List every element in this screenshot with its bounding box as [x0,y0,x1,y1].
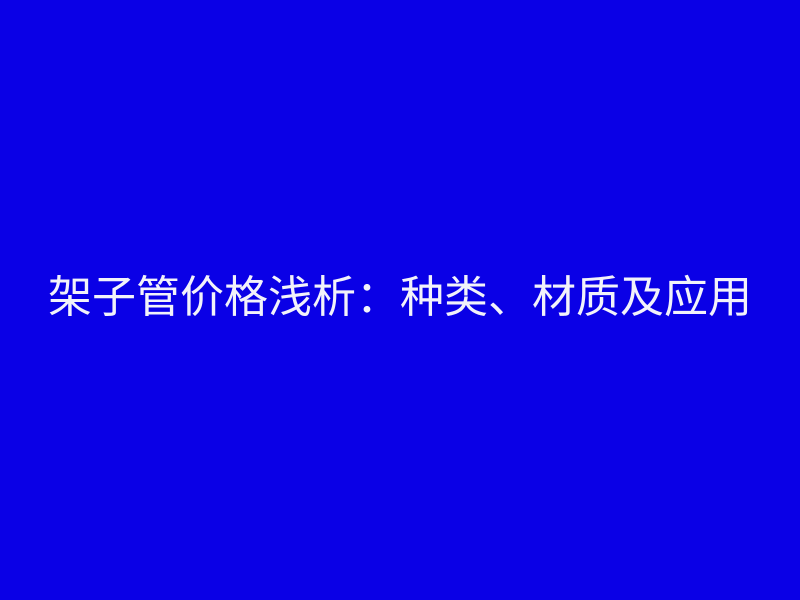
page-title: 架子管价格浅析：种类、材质及应用 [48,276,752,320]
slide-canvas: 架子管价格浅析：种类、材质及应用 [0,0,800,600]
title-band: 架子管价格浅析：种类、材质及应用 [0,258,800,338]
